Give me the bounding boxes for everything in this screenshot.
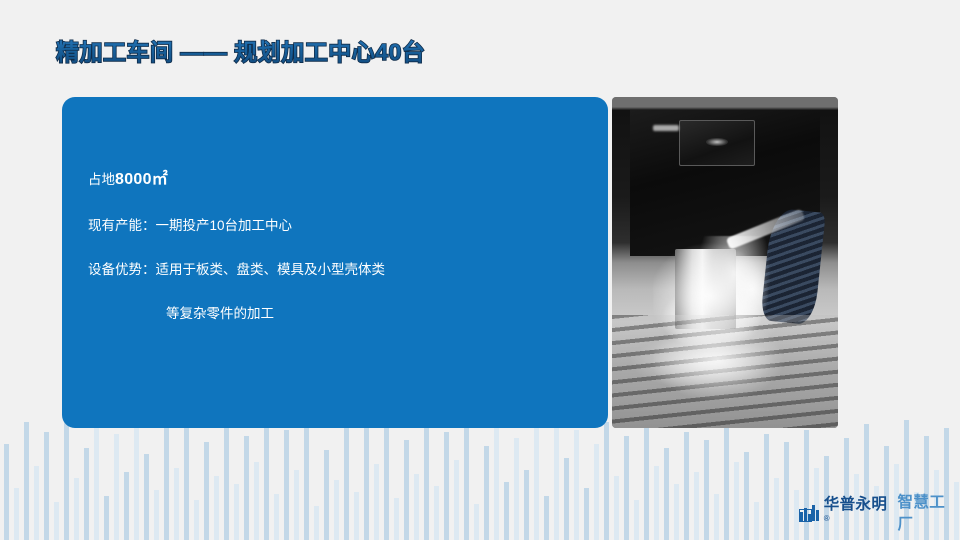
decorative-bar — [684, 432, 689, 540]
decorative-bar — [774, 478, 779, 540]
decorative-bar — [404, 440, 409, 540]
decorative-bar — [584, 488, 589, 540]
brand-superscript: ® — [824, 514, 830, 523]
coolant-spray — [653, 236, 793, 408]
decorative-bar — [264, 420, 269, 540]
brand-name-primary-text: 华普永明 — [824, 496, 888, 513]
cnc-machining-center-photo — [612, 97, 838, 428]
bullet-area-prefix: 占地 — [88, 172, 115, 187]
decorative-bar — [174, 468, 179, 540]
decorative-bar — [54, 502, 59, 540]
decorative-bar — [624, 436, 629, 540]
decorative-bar — [424, 420, 429, 540]
decorative-bar — [414, 474, 419, 540]
decorative-bar — [604, 422, 609, 540]
decorative-bar — [574, 430, 579, 540]
decorative-bar — [504, 482, 509, 540]
decorative-bar — [364, 428, 369, 540]
decorative-bar — [764, 434, 769, 540]
mark-bar — [804, 508, 807, 521]
decorative-bar — [734, 462, 739, 540]
decorative-bar — [234, 484, 239, 540]
decorative-bar — [304, 420, 309, 540]
decorative-bar — [654, 466, 659, 540]
decorative-bar — [434, 486, 439, 540]
bullet-equipment-advantage-cont: 等复杂零件的加工 — [166, 305, 588, 323]
decorative-bar — [454, 460, 459, 540]
bullet-area-value: 8000㎡ — [115, 171, 168, 188]
decorative-bar — [394, 498, 399, 540]
factory-bars-mark-icon — [800, 504, 819, 521]
decorative-bar — [544, 496, 549, 540]
decorative-bar — [674, 484, 679, 540]
decorative-bar — [44, 432, 49, 540]
decorative-bar — [34, 466, 39, 540]
decorative-bar — [724, 426, 729, 540]
decorative-bar — [534, 420, 539, 540]
decorative-bar — [514, 438, 519, 540]
decorative-bar — [564, 458, 569, 540]
decorative-bar — [14, 488, 19, 540]
brand-name-secondary: 智慧工厂 — [897, 490, 960, 534]
decorative-bar — [24, 422, 29, 540]
decorative-bar — [194, 500, 199, 540]
mark-bar — [816, 510, 819, 521]
decorative-bar — [704, 440, 709, 540]
mark-bar — [808, 514, 811, 521]
spindle-access-plate — [679, 120, 755, 165]
mark-bar — [812, 505, 815, 521]
decorative-bar — [314, 506, 319, 540]
decorative-bar — [64, 420, 69, 540]
photo-highlight — [653, 125, 680, 131]
decorative-bar — [84, 448, 89, 540]
decorative-bar — [294, 470, 299, 540]
brand-name-primary: 华普永明® — [824, 492, 893, 532]
decorative-bar — [754, 502, 759, 540]
decorative-bar — [74, 478, 79, 540]
decorative-bar — [324, 450, 329, 540]
decorative-bar — [164, 426, 169, 540]
decorative-bar — [134, 420, 139, 540]
decorative-bar — [474, 504, 479, 540]
page-title-wrapper: 精加工车间 —— 规划加工中心40台 精加工车间 —— 规划加工中心40台 — [56, 33, 425, 67]
decorative-bar — [614, 476, 619, 540]
brand-logo: 华普永明® 智慧工厂 — [800, 490, 960, 534]
bullet-equipment-advantage: 设备优势：适用于板类、盘类、模具及小型壳体类 — [88, 261, 588, 279]
decorative-bar — [344, 420, 349, 540]
decorative-bar — [384, 420, 389, 540]
decorative-bar — [274, 494, 279, 540]
slide-canvas: 精加工车间 —— 规划加工中心40台 精加工车间 —— 规划加工中心40台 占地… — [0, 0, 960, 540]
decorative-bar — [664, 448, 669, 540]
decorative-bar — [254, 462, 259, 540]
decorative-bar — [244, 436, 249, 540]
decorative-bar — [464, 420, 469, 540]
bullet-list: 占地8000㎡ 现有产能：一期投产10台加工中心 设备优势：适用于板类、盘类、模… — [88, 169, 588, 323]
mark-bar — [800, 512, 803, 521]
decorative-bar — [744, 452, 749, 540]
decorative-bar — [554, 424, 559, 540]
content-panel: 占地8000㎡ 现有产能：一期投产10台加工中心 设备优势：适用于板类、盘类、模… — [62, 97, 608, 428]
decorative-bar — [154, 490, 159, 540]
decorative-bar — [484, 446, 489, 540]
decorative-bar — [214, 476, 219, 540]
decorative-bar — [114, 434, 119, 540]
decorative-bar — [374, 464, 379, 540]
decorative-bar — [224, 420, 229, 540]
decorative-bar — [4, 444, 9, 540]
decorative-bar — [714, 494, 719, 540]
decorative-bar — [594, 444, 599, 540]
decorative-bar — [784, 442, 789, 540]
decorative-bar — [494, 420, 499, 540]
decorative-bar — [184, 420, 189, 540]
decorative-bar — [634, 500, 639, 540]
decorative-bar — [104, 496, 109, 540]
decorative-bar — [284, 430, 289, 540]
bullet-area: 占地8000㎡ — [88, 169, 588, 191]
decorative-bar — [694, 472, 699, 540]
decorative-bar — [354, 492, 359, 540]
decorative-bar — [204, 442, 209, 540]
decorative-bar — [124, 472, 129, 540]
decorative-bar — [644, 428, 649, 540]
decorative-bar — [94, 420, 99, 540]
decorative-bar — [524, 470, 529, 540]
page-title: 精加工车间 —— 规划加工中心40台 — [56, 33, 425, 67]
bullet-current-capacity: 现有产能：一期投产10台加工中心 — [88, 217, 588, 235]
decorative-bar — [144, 454, 149, 540]
decorative-bar — [334, 480, 339, 540]
decorative-bar — [444, 432, 449, 540]
